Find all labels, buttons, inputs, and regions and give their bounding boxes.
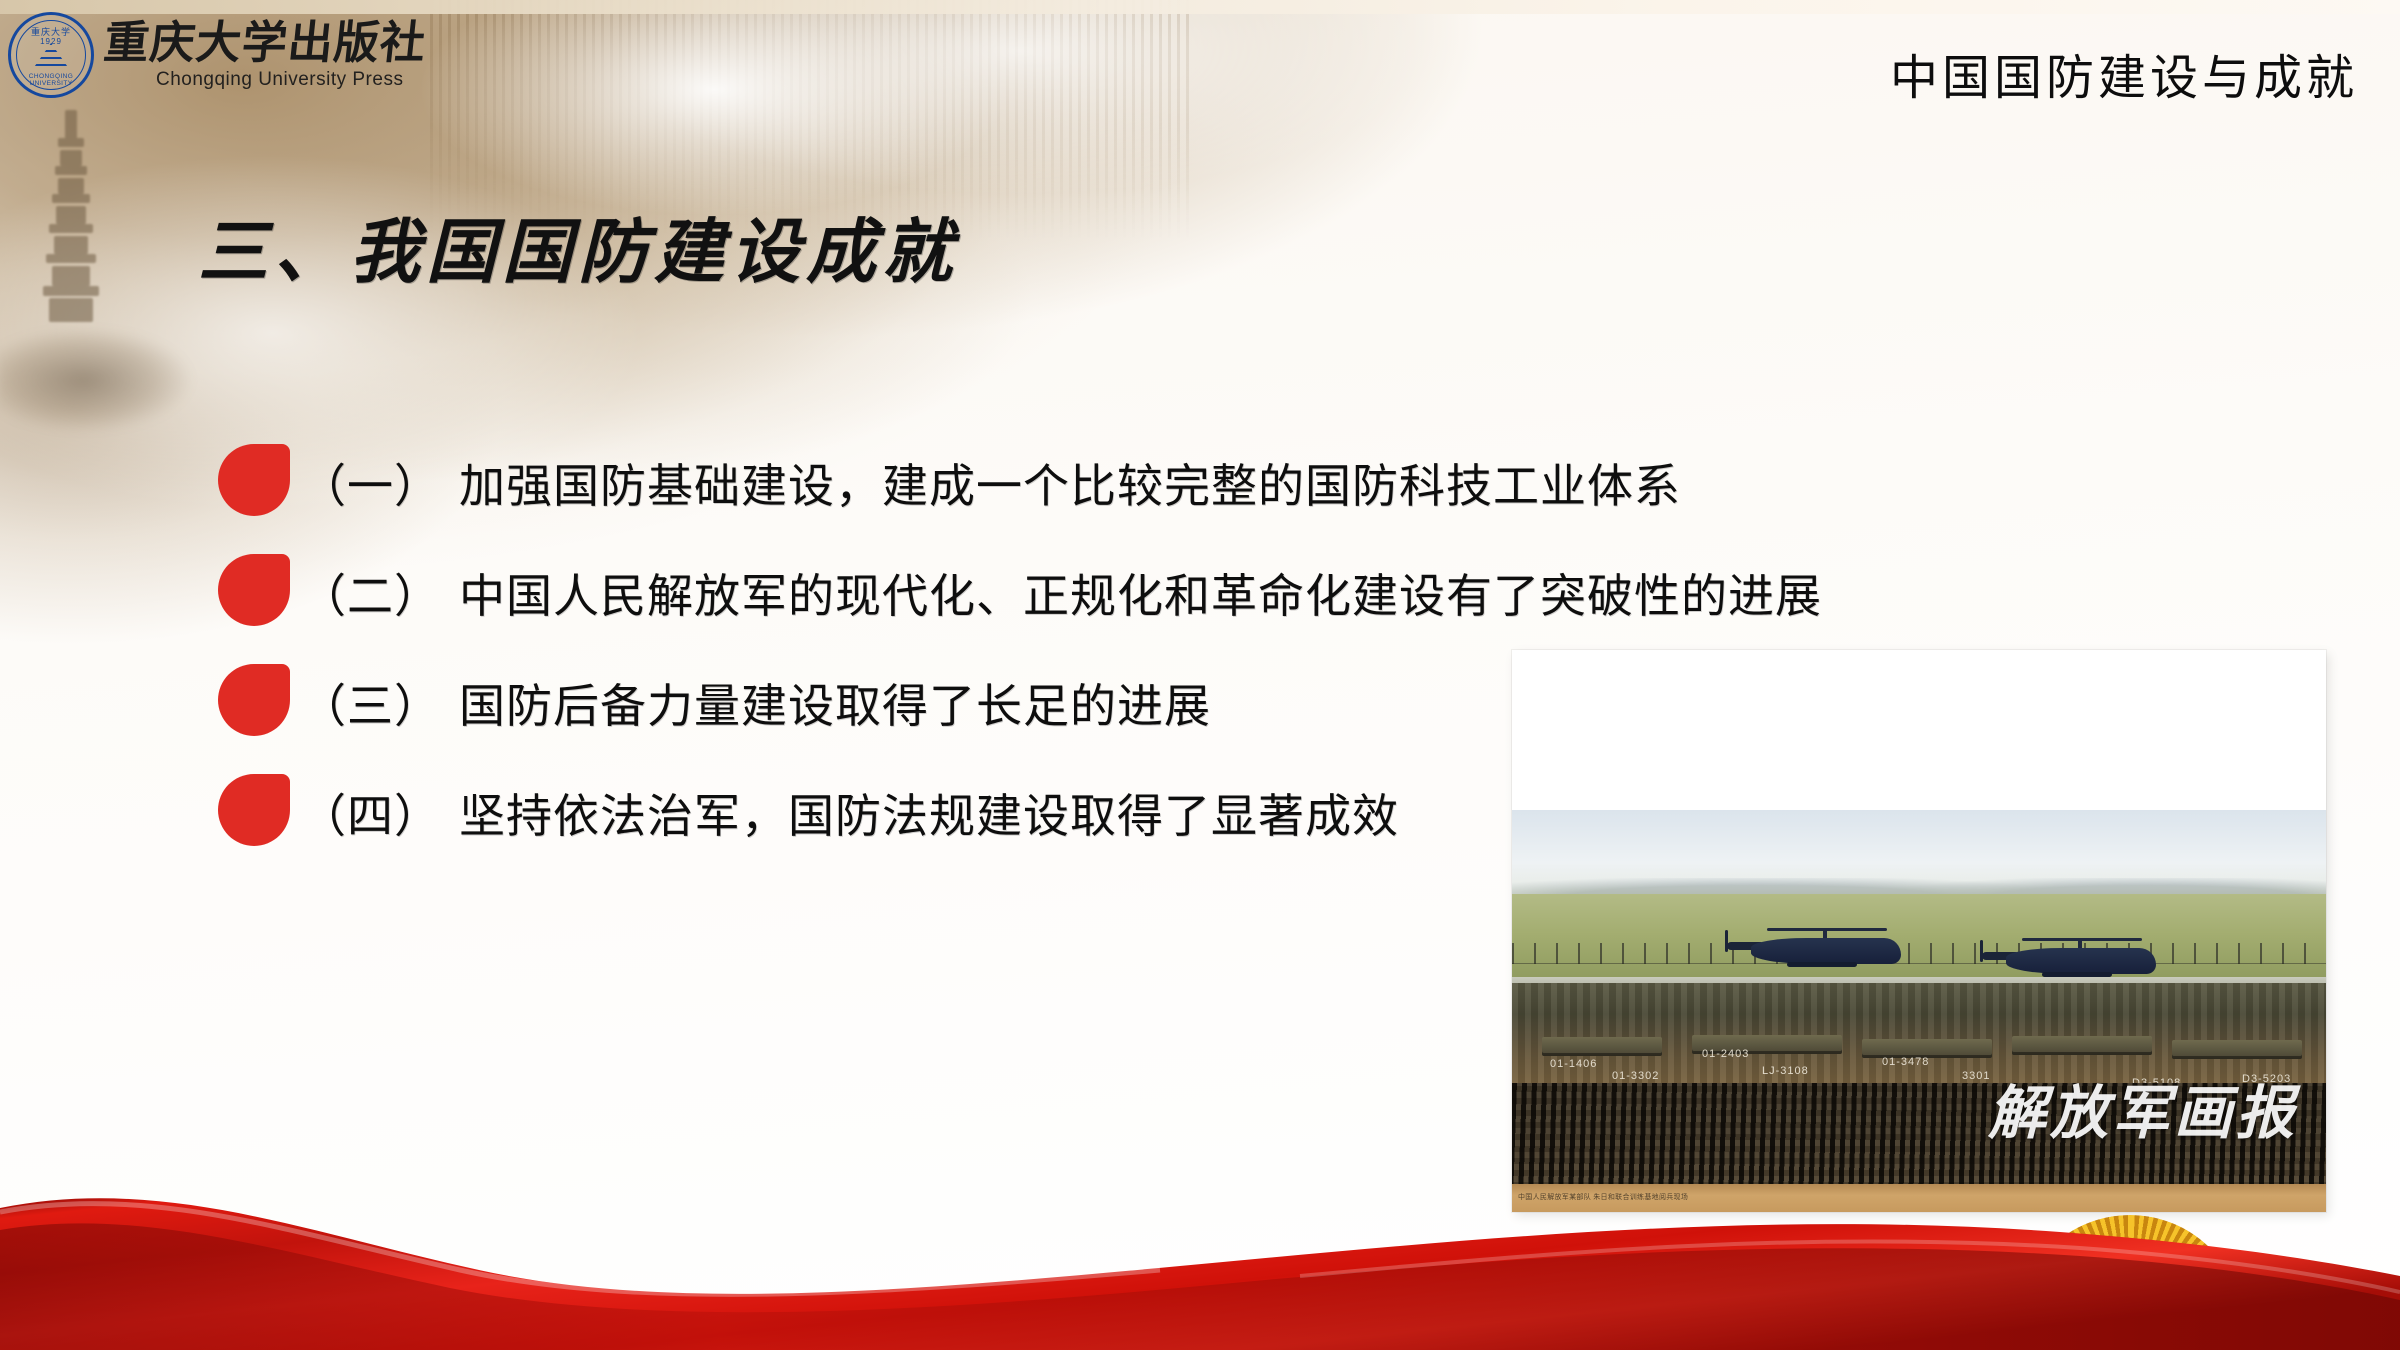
- page-title: 三、我国国防建设成就: [198, 196, 958, 297]
- list-item-label: （二）中国人民解放军的现代化、正规化和革命化建设有了突破性的进展: [300, 560, 1822, 626]
- list-item-label: （三）国防后备力量建设取得了长足的进展: [300, 670, 1211, 736]
- chongqing-university-seal-icon: 重庆大学 1929 CHONGQING UNIVERSITY: [8, 12, 94, 98]
- photo-watermark: 解放军画报: [1988, 1066, 2298, 1150]
- vehicle-tag: 01-3302: [1612, 1070, 1659, 1082]
- header-title: 中国国防建设与成就: [1890, 38, 2358, 108]
- list-item-label: （四）坚持依法治军，国防法规建设取得了显著成效: [300, 780, 1399, 846]
- slide-root: 重庆大学 1929 CHONGQING UNIVERSITY 重庆大学出版社 C…: [0, 0, 2400, 1350]
- publisher-name-cn: 重庆大学出版社: [102, 21, 429, 66]
- list-item[interactable]: （二）中国人民解放军的现代化、正规化和革命化建设有了突破性的进展: [218, 538, 2218, 648]
- list-item-text: 国防后备力量建设取得了长足的进展: [459, 681, 1211, 732]
- droplet-bullet-icon: [218, 664, 290, 736]
- seal-arc-text: CHONGQING UNIVERSITY: [11, 73, 91, 87]
- vehicle-tag: 01-1406: [1550, 1058, 1597, 1070]
- photo-caption: 中国人民解放军某部队 朱日和联合训练基地阅兵现场: [1518, 1193, 1688, 1202]
- list-item-number: （二）: [300, 571, 441, 622]
- photo-grassland: [1512, 894, 2326, 982]
- seal-pyramid-shape: [30, 43, 72, 73]
- droplet-bullet-icon: [218, 774, 290, 846]
- list-item-text: 加强国防基础建设，建成一个比较完整的国防科技工业体系: [459, 461, 1681, 512]
- military-parade-photo: 01-1406 01-2403 01-3302 LJ-3108 01-3478 …: [1512, 650, 2326, 1212]
- publisher-name-en: Chongqing University Press: [104, 70, 426, 89]
- list-item-text: 坚持依法治军，国防法规建设取得了显著成效: [459, 791, 1399, 842]
- droplet-bullet-icon: [218, 444, 290, 516]
- list-item-number: （四）: [300, 791, 441, 842]
- list-item-number: （三）: [300, 681, 441, 732]
- droplet-bullet-icon: [218, 554, 290, 626]
- list-item[interactable]: （一）加强国防基础建设，建成一个比较完整的国防科技工业体系: [218, 428, 2218, 538]
- photo-fence: [1512, 943, 2326, 964]
- seal-year: 1929: [11, 37, 91, 46]
- vehicle-tag: 3301: [1962, 1070, 1990, 1082]
- vehicle-tag: 01-3478: [1882, 1056, 1929, 1068]
- vehicle-tag: LJ-3108: [1762, 1065, 1809, 1077]
- vehicle-tag: 01-2403: [1702, 1048, 1749, 1060]
- list-item-label: （一）加强国防基础建设，建成一个比较完整的国防科技工业体系: [300, 450, 1681, 516]
- photo-content: 01-1406 01-2403 01-3302 LJ-3108 01-3478 …: [1512, 810, 2326, 1212]
- helicopter-icon: [1982, 936, 2172, 982]
- publisher-logo: 重庆大学 1929 CHONGQING UNIVERSITY 重庆大学出版社 C…: [8, 12, 426, 98]
- helicopter-icon: [1727, 926, 1917, 972]
- list-item-number: （一）: [300, 461, 441, 512]
- national-emblem-icon: [2020, 1215, 2240, 1350]
- list-item-text: 中国人民解放军的现代化、正规化和革命化建设有了突破性的进展: [459, 571, 1822, 622]
- pagoda-silhouette-icon: [6, 110, 136, 470]
